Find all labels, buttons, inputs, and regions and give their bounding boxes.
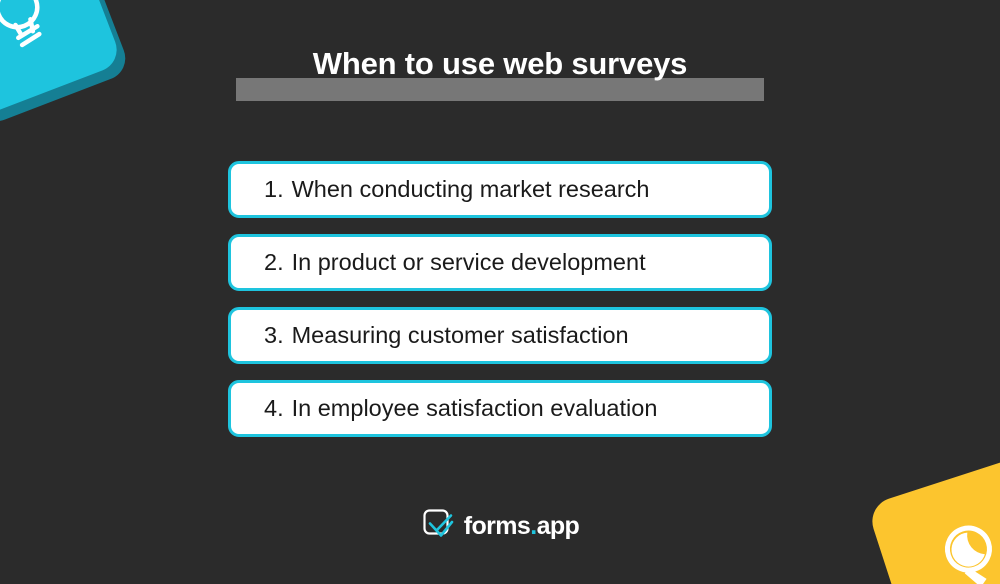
list-item[interactable]: 2.In product or service development — [228, 234, 772, 291]
slide-canvas: When to use web surveys 1.When conductin… — [0, 0, 1000, 584]
brand-first: forms — [464, 512, 530, 540]
list-item-text: 2.In product or service development — [264, 251, 646, 275]
brand-wordmark: forms.app — [464, 514, 579, 539]
page-title-block: When to use web surveys — [0, 48, 1000, 79]
brand-last: app — [537, 512, 580, 540]
list-item-text: 4.In employee satisfaction evaluation — [264, 397, 657, 421]
forms-app-check-icon — [421, 507, 455, 546]
list-item[interactable]: 4.In employee satisfaction evaluation — [228, 380, 772, 437]
survey-use-case-list: 1.When conducting market research 2.In p… — [228, 161, 772, 437]
list-item-label: When conducting market research — [292, 176, 650, 202]
list-item[interactable]: 3.Measuring customer satisfaction — [228, 307, 772, 364]
page-title: When to use web surveys — [313, 48, 687, 79]
list-item[interactable]: 1.When conducting market research — [228, 161, 772, 218]
list-item-number: 2. — [264, 249, 284, 275]
list-item-label: Measuring customer satisfaction — [292, 322, 629, 348]
list-item-number: 1. — [264, 176, 284, 202]
title-highlight-bar — [236, 78, 764, 101]
list-item-text: 3.Measuring customer satisfaction — [264, 324, 629, 348]
list-item-number: 4. — [264, 395, 284, 421]
list-item-number: 3. — [264, 322, 284, 348]
list-item-text: 1.When conducting market research — [264, 178, 650, 202]
list-item-label: In employee satisfaction evaluation — [292, 395, 658, 421]
brand-logo: forms.app — [0, 507, 1000, 546]
list-item-label: In product or service development — [292, 249, 646, 275]
